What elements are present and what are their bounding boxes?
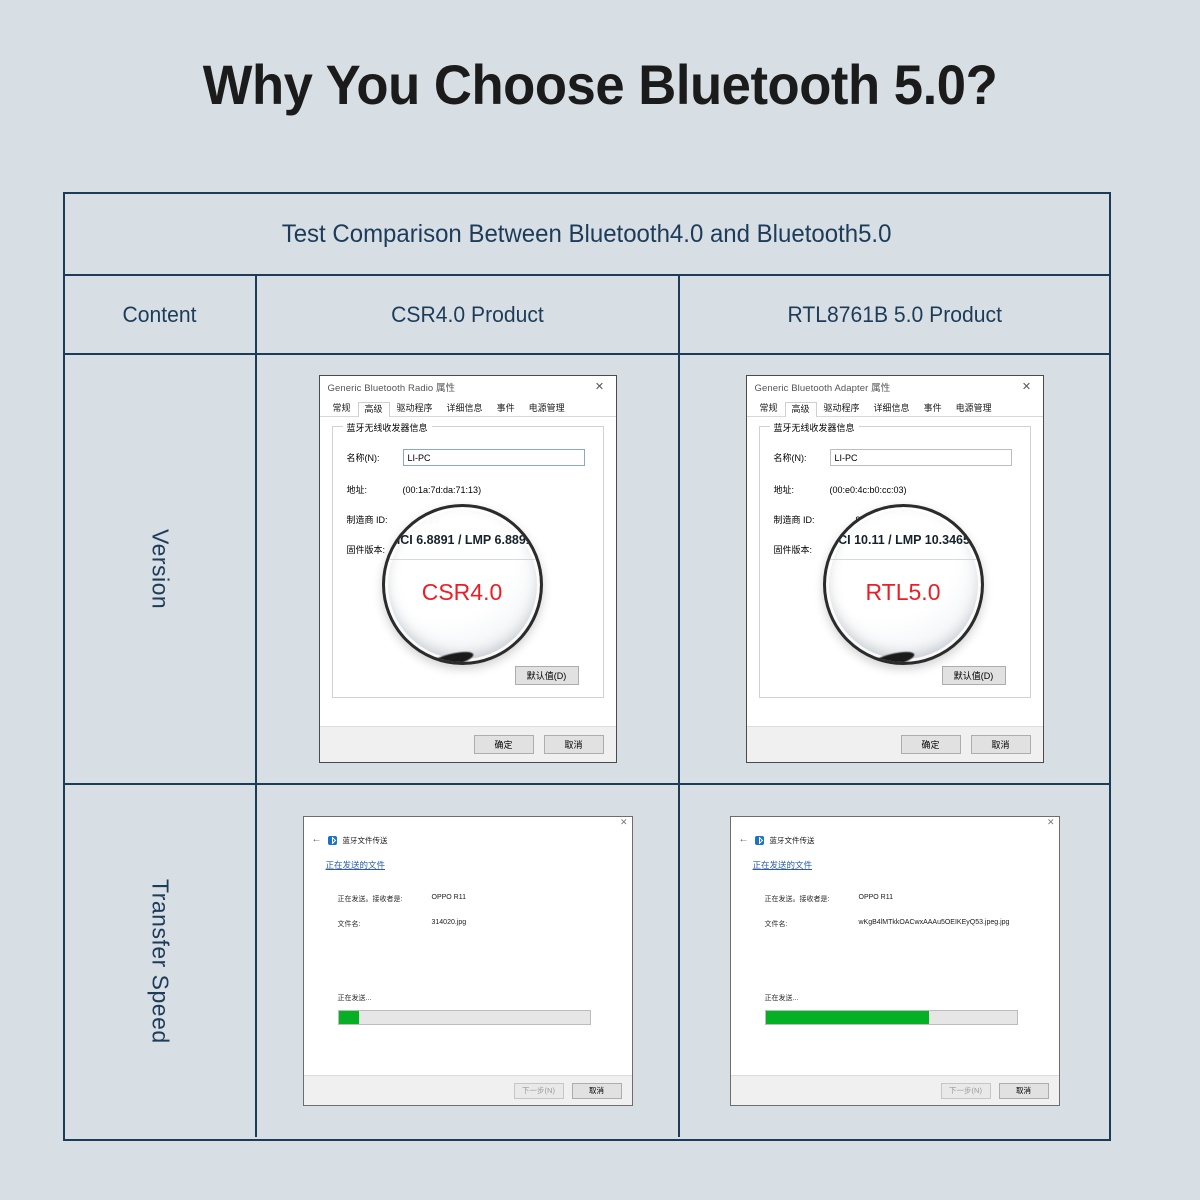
transfer-field-filename-label: 文件名: xyxy=(765,919,837,929)
transfer-field-filename: 文件名: wKgB4lMTkkOACwxAAAu5OEIKEyQ53.jpeg.… xyxy=(765,919,1010,929)
transfer-field-receiver-value: OPPO R11 xyxy=(410,894,467,904)
progress-bar xyxy=(338,1010,591,1025)
transfer-field-filename-value: 314020.jpg xyxy=(410,919,467,929)
default-value-button[interactable]: 默认值(D) xyxy=(942,666,1006,685)
name-input[interactable]: LI-PC xyxy=(403,449,585,466)
progress-label: 正在发送... xyxy=(765,993,799,1003)
next-button[interactable]: 下一步(N) xyxy=(514,1083,564,1099)
bluetooth-file-transfer-dialog-a: ✕ ← 蓝牙文件传送 正在发送的文件 正在发送。接收者是: OPPO R11 文… xyxy=(303,816,633,1106)
field-manufacturer-id-label: 制造商 ID: xyxy=(774,513,830,526)
lens-badge-text: RTL5.0 xyxy=(826,579,981,606)
field-manufacturer-id-label: 制造商 ID: xyxy=(347,513,403,526)
table-header-content: Content xyxy=(65,276,257,353)
transfer-app-title: 蓝牙文件传送 xyxy=(343,835,388,846)
close-icon[interactable]: ✕ xyxy=(1011,376,1043,398)
ok-button[interactable]: 确定 xyxy=(901,735,961,754)
transfer-footer: 下一步(N) 取消 xyxy=(731,1075,1059,1105)
tab-events[interactable]: 事件 xyxy=(917,401,949,416)
dialog-title: Generic Bluetooth Radio 属性 xyxy=(328,380,456,394)
tab-advanced[interactable]: 高级 xyxy=(785,402,817,417)
dialog-footer: 确定 取消 xyxy=(747,726,1043,762)
transfer-header: ← 蓝牙文件传送 xyxy=(304,833,632,847)
dialog-title: Generic Bluetooth Adapter 属性 xyxy=(755,380,891,394)
field-address-value: (00:e0:4c:b0:cc:03) xyxy=(830,485,907,495)
progress-bar xyxy=(765,1010,1018,1025)
tab-events[interactable]: 事件 xyxy=(490,401,522,416)
bluetooth-icon xyxy=(328,836,337,845)
tab-driver[interactable]: 驱动程序 xyxy=(390,401,440,416)
comparison-table: Test Comparison Between Bluetooth4.0 and… xyxy=(63,192,1111,1141)
cancel-button[interactable]: 取消 xyxy=(544,735,604,754)
progress-bar-fill xyxy=(339,1011,359,1024)
transfer-subtitle: 正在发送的文件 xyxy=(753,859,813,871)
row-label-version-text: Version xyxy=(147,529,174,609)
table-caption-text: Test Comparison Between Bluetooth4.0 and… xyxy=(282,220,892,249)
transfer-field-receiver: 正在发送。接收者是: OPPO R11 xyxy=(338,894,467,904)
table-caption: Test Comparison Between Bluetooth4.0 and… xyxy=(65,194,1109,276)
field-firmware-version: 固件版本: xyxy=(774,543,830,556)
lens-firmware-text: HCI 10.11 / LMP 10.34657 xyxy=(826,533,981,547)
cancel-button[interactable]: 取消 xyxy=(971,735,1031,754)
dialog-titlebar: Generic Bluetooth Radio 属性 ✕ xyxy=(320,376,616,398)
page-root: Why You Choose Bluetooth 5.0? Test Compa… xyxy=(0,0,1200,1200)
transfer-field-receiver-value: OPPO R11 xyxy=(837,894,894,904)
group-legend: 蓝牙无线收发器信息 xyxy=(343,421,432,434)
bluetooth-icon xyxy=(755,836,764,845)
progress-bar-fill xyxy=(766,1011,929,1024)
table-header-product-a: CSR4.0 Product xyxy=(257,276,680,353)
back-arrow-icon[interactable]: ← xyxy=(739,835,749,845)
bluetooth-file-transfer-dialog-b: ✕ ← 蓝牙文件传送 正在发送的文件 正在发送。接收者是: OPPO R11 文… xyxy=(730,816,1060,1106)
cancel-button[interactable]: 取消 xyxy=(572,1083,622,1099)
row-label-transfer-speed: Transfer Speed xyxy=(65,785,257,1137)
field-name: 名称(N): LI-PC xyxy=(347,449,585,466)
row-label-version: Version xyxy=(65,355,257,783)
lens-separator xyxy=(826,559,981,560)
table-header-product-b: RTL8761B 5.0 Product xyxy=(680,276,1109,353)
next-button[interactable]: 下一步(N) xyxy=(941,1083,991,1099)
cell-transfer-product-a: ✕ ← 蓝牙文件传送 正在发送的文件 正在发送。接收者是: OPPO R11 文… xyxy=(257,785,680,1137)
transfer-field-filename-label: 文件名: xyxy=(338,919,410,929)
lens-firmware-text: HCI 6.8891 / LMP 6.8891 xyxy=(385,533,540,547)
cell-version-product-b: Generic Bluetooth Adapter 属性 ✕ 常规 高级 驱动程… xyxy=(680,355,1109,783)
transfer-field-receiver-label: 正在发送。接收者是: xyxy=(338,894,410,904)
table-row: Transfer Speed ✕ ← 蓝牙文件传送 正在发送的文件 正在发送。接… xyxy=(65,785,1109,1137)
field-name-label: 名称(N): xyxy=(774,451,830,464)
table-row: Version Generic Bluetooth Radio 属性 ✕ 常规 … xyxy=(65,355,1109,785)
transfer-field-filename: 文件名: 314020.jpg xyxy=(338,919,467,929)
page-title: Why You Choose Bluetooth 5.0? xyxy=(36,52,1164,117)
field-address-value: (00:1a:7d:da:71:13) xyxy=(403,485,482,495)
table-header-product-a-text: CSR4.0 Product xyxy=(391,302,544,328)
dialog-titlebar: Generic Bluetooth Adapter 属性 ✕ xyxy=(747,376,1043,398)
tab-power-management[interactable]: 电源管理 xyxy=(949,401,999,416)
default-value-button[interactable]: 默认值(D) xyxy=(515,666,579,685)
field-address: 地址: (00:1a:7d:da:71:13) xyxy=(347,483,482,496)
row-label-transfer-speed-text: Transfer Speed xyxy=(147,879,174,1044)
progress-label: 正在发送... xyxy=(338,993,372,1003)
transfer-footer: 下一步(N) 取消 xyxy=(304,1075,632,1105)
magnifier-lens-rtl: HCI 10.11 / LMP 10.34657 RTL5.0 xyxy=(823,504,984,665)
cell-transfer-product-b: ✕ ← 蓝牙文件传送 正在发送的文件 正在发送。接收者是: OPPO R11 文… xyxy=(680,785,1109,1137)
transfer-app-title: 蓝牙文件传送 xyxy=(770,835,815,846)
name-input[interactable]: LI-PC xyxy=(830,449,1012,466)
transfer-field-filename-value: wKgB4lMTkkOACwxAAAu5OEIKEyQ53.jpeg.jpg xyxy=(837,919,1010,929)
tab-general[interactable]: 常规 xyxy=(753,401,785,416)
field-name-label: 名称(N): xyxy=(347,451,403,464)
transfer-header: ← 蓝牙文件传送 xyxy=(731,833,1059,847)
dialog-tabstrip: 常规 高级 驱动程序 详细信息 事件 电源管理 xyxy=(320,398,616,417)
transfer-topbar: ✕ xyxy=(731,817,1059,833)
tab-details[interactable]: 详细信息 xyxy=(440,401,490,416)
table-header-row: Content CSR4.0 Product RTL8761B 5.0 Prod… xyxy=(65,276,1109,355)
bluetooth-adapter-properties-dialog: Generic Bluetooth Adapter 属性 ✕ 常规 高级 驱动程… xyxy=(746,375,1044,763)
tab-power-management[interactable]: 电源管理 xyxy=(522,401,572,416)
cancel-button[interactable]: 取消 xyxy=(999,1083,1049,1099)
magnifier-lens-csr: HCI 6.8891 / LMP 6.8891 CSR4.0 xyxy=(382,504,543,665)
lens-badge-text: CSR4.0 xyxy=(385,579,540,606)
dialog-tabstrip: 常规 高级 驱动程序 详细信息 事件 电源管理 xyxy=(747,398,1043,417)
transfer-field-receiver: 正在发送。接收者是: OPPO R11 xyxy=(765,894,894,904)
tab-details[interactable]: 详细信息 xyxy=(867,401,917,416)
lens-separator xyxy=(385,559,540,560)
tab-advanced[interactable]: 高级 xyxy=(358,402,390,417)
field-address: 地址: (00:e0:4c:b0:cc:03) xyxy=(774,483,907,496)
field-address-label: 地址: xyxy=(347,483,403,496)
dialog-footer: 确定 取消 xyxy=(320,726,616,762)
bluetooth-radio-properties-dialog: Generic Bluetooth Radio 属性 ✕ 常规 高级 驱动程序 … xyxy=(319,375,617,763)
table-header-content-text: Content xyxy=(123,302,197,328)
cell-version-product-a: Generic Bluetooth Radio 属性 ✕ 常规 高级 驱动程序 … xyxy=(257,355,680,783)
field-name: 名称(N): LI-PC xyxy=(774,449,1012,466)
table-header-product-b-text: RTL8761B 5.0 Product xyxy=(787,302,1001,328)
tab-driver[interactable]: 驱动程序 xyxy=(817,401,867,416)
field-address-label: 地址: xyxy=(774,483,830,496)
transfer-topbar: ✕ xyxy=(304,817,632,833)
tab-general[interactable]: 常规 xyxy=(326,401,358,416)
ok-button[interactable]: 确定 xyxy=(474,735,534,754)
close-icon[interactable]: ✕ xyxy=(620,818,628,827)
close-icon[interactable]: ✕ xyxy=(584,376,616,398)
close-icon[interactable]: ✕ xyxy=(1047,818,1055,827)
field-firmware-version-label: 固件版本: xyxy=(774,543,830,556)
transfer-field-receiver-label: 正在发送。接收者是: xyxy=(765,894,837,904)
back-arrow-icon[interactable]: ← xyxy=(312,835,322,845)
transfer-subtitle: 正在发送的文件 xyxy=(326,859,386,871)
group-legend: 蓝牙无线收发器信息 xyxy=(770,421,859,434)
